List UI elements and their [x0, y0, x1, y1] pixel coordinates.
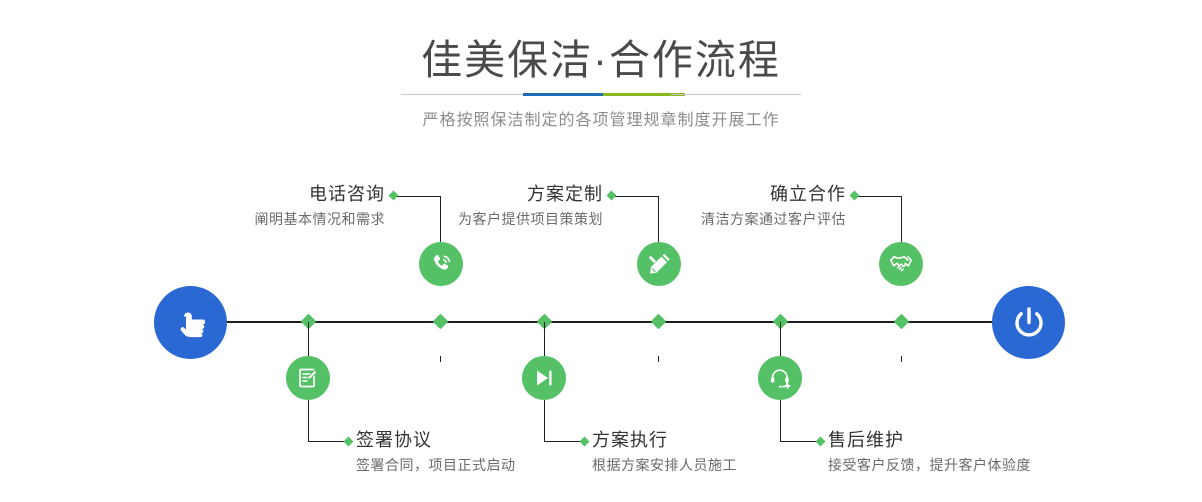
divider-rule-right: [671, 94, 801, 95]
pencil-ruler-icon: [647, 252, 672, 277]
label-dot-5: [850, 191, 860, 201]
timeline-start-node[interactable]: [154, 286, 227, 359]
pointing-hand-icon: [171, 303, 211, 343]
headset-support-icon: [768, 366, 793, 391]
connector-vertical-1: [440, 356, 441, 362]
step-label-6: 售后维护 接受客户反馈，提升客户体验度: [828, 428, 1158, 476]
divider-segment-blue: [523, 93, 603, 96]
step-title-5: 确立合作: [561, 182, 846, 206]
connector-horizontal-2: [308, 441, 348, 442]
step-icon-6[interactable]: [758, 356, 802, 400]
step-title-6: 售后维护: [828, 428, 1158, 452]
handshake-icon: [888, 251, 914, 277]
phone-call-icon: [428, 251, 454, 277]
title-divider: [401, 93, 801, 96]
step-icon-3[interactable]: [637, 242, 681, 286]
step-icon-1[interactable]: [419, 242, 463, 286]
step-label-5: 确立合作 清洁方案通过客户评估: [561, 182, 846, 230]
connector-horizontal-4: [544, 441, 584, 442]
page-title: 佳美保洁·合作流程: [0, 34, 1202, 86]
step-icon-5[interactable]: [879, 242, 923, 286]
label-dot-2: [344, 437, 354, 447]
connector-vertical-4b: [544, 400, 545, 442]
play-execute-icon: [532, 366, 556, 390]
step-desc-5: 清洁方案通过客户评估: [561, 208, 846, 230]
connector-vertical-5: [901, 356, 902, 362]
divider-rule-left: [401, 94, 531, 95]
process-timeline: 电话咨询 阐明基本情况和需求 签署协议 签署合同，项目正式启动: [0, 150, 1202, 502]
connector-vertical-2b: [308, 400, 309, 442]
connector-vertical-6b: [780, 400, 781, 442]
page-subtitle: 严格按照保洁制定的各项管理规章制度开展工作: [0, 106, 1202, 130]
timeline-node-5: [894, 314, 910, 330]
connector-vertical-3: [658, 356, 659, 362]
document-sign-icon: [296, 366, 320, 390]
step-icon-4[interactable]: [522, 356, 566, 400]
connector-vertical-5b: [901, 196, 902, 242]
connector-vertical-6: [780, 322, 781, 356]
page-header: 佳美保洁·合作流程 严格按照保洁制定的各项管理规章制度开展工作: [0, 0, 1202, 150]
connector-horizontal-5: [858, 196, 902, 197]
timeline-end-node[interactable]: [992, 286, 1065, 359]
connector-horizontal-6: [780, 441, 820, 442]
connector-vertical-4: [544, 322, 545, 356]
power-button-icon: [1008, 302, 1050, 344]
timeline-node-1: [433, 314, 449, 330]
step-desc-6: 接受客户反馈，提升客户体验度: [828, 454, 1158, 476]
connector-vertical-2: [308, 322, 309, 356]
step-icon-2[interactable]: [286, 356, 330, 400]
timeline-node-3: [651, 314, 667, 330]
